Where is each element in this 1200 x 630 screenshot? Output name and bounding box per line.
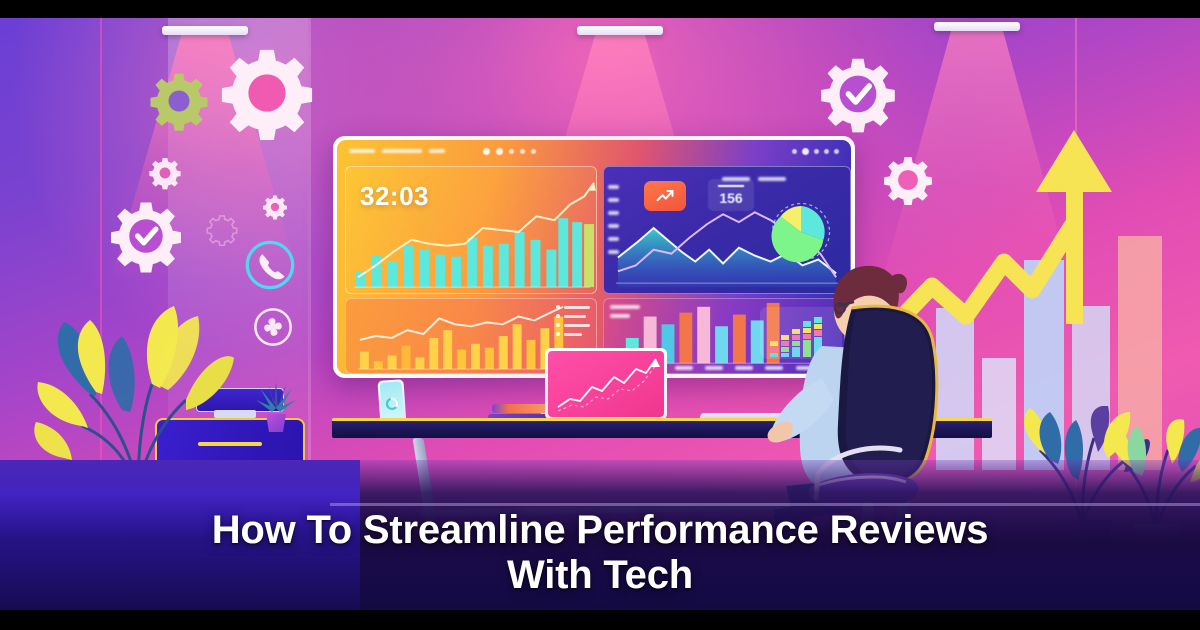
timer-stat: 32:03	[360, 181, 429, 212]
gear-check-icon	[108, 198, 184, 274]
share-icon[interactable]	[520, 149, 525, 154]
legend-dot	[556, 314, 560, 318]
hero-image: 32:03	[0, 0, 1200, 630]
kpi-badge-icon	[644, 181, 686, 211]
axis-tick	[608, 211, 619, 215]
axis-label	[675, 366, 693, 370]
gear-icon-right	[882, 154, 934, 206]
secondary-line-chart	[548, 351, 664, 417]
revenue-legend	[556, 305, 590, 341]
filter-icon[interactable]	[792, 149, 797, 154]
letterbox-bottom	[0, 610, 1200, 630]
circle-icon[interactable]	[496, 148, 503, 155]
page-title-line-2: With Tech	[507, 553, 693, 597]
legend-bar	[564, 333, 582, 336]
legend-bar	[564, 306, 590, 309]
page-title-line-1: How To Streamline Performance Reviews	[212, 508, 989, 552]
spotlight-fixture-far-right	[934, 22, 1020, 31]
circle-icon[interactable]	[483, 148, 490, 155]
circle-icon[interactable]	[802, 148, 809, 155]
bell-icon[interactable]	[824, 149, 829, 154]
letterbox-top	[0, 0, 1200, 18]
nav-item-team[interactable]	[429, 149, 445, 153]
nav-item-overview[interactable]	[349, 149, 375, 153]
gear-outline-icon	[206, 214, 238, 246]
legend-label	[758, 177, 786, 181]
pin-icon[interactable]	[814, 149, 819, 154]
axis-label	[705, 366, 723, 370]
axis-tick	[608, 250, 619, 254]
legend-bar	[564, 324, 590, 327]
legend-label	[722, 177, 750, 181]
user-icon[interactable]	[834, 149, 839, 154]
panel-subtitle	[610, 314, 630, 318]
secondary-monitor[interactable]	[545, 348, 667, 420]
book-stack-top	[492, 404, 548, 413]
plant-desk-succulent	[248, 374, 304, 436]
spotlight-fixture-left	[162, 26, 248, 35]
menu-icon[interactable]	[531, 149, 536, 154]
pie-chart	[770, 201, 832, 263]
legend-bar	[564, 315, 586, 318]
gear-icon-olive	[148, 70, 210, 132]
gear-icon-large	[218, 44, 316, 142]
kpi-count-value: 156	[719, 190, 742, 206]
panel-title	[610, 305, 640, 309]
trend-up-icon	[655, 186, 675, 206]
edit-icon[interactable]	[509, 149, 514, 154]
axis-tick	[608, 185, 619, 189]
phone-circle-icon	[243, 238, 297, 292]
legend-dot	[556, 323, 560, 327]
secondary-monitor-screen[interactable]	[548, 351, 664, 417]
legend-dot	[556, 332, 560, 336]
nav-item-analytics[interactable]	[382, 149, 422, 153]
axis-tick	[608, 237, 619, 241]
title-overlay: How To Streamline Performance Reviews Wi…	[0, 508, 1200, 612]
gear-check-icon-right	[818, 54, 898, 134]
gear-icon-tiny	[262, 194, 288, 220]
legend-dot	[556, 305, 560, 309]
panel-timer-bars[interactable]: 32:03	[345, 166, 597, 294]
axis-label	[735, 366, 753, 370]
fan-circle-icon	[252, 306, 294, 348]
axis-tick	[608, 198, 619, 202]
spotlight-fixture-right	[577, 26, 663, 35]
gear-icon-small	[148, 156, 182, 190]
axis-tick	[608, 224, 619, 228]
page-title: How To Streamline Performance Reviews Wi…	[90, 508, 1110, 598]
kpi-count: 156	[708, 179, 754, 211]
dashboard-toolbar[interactable]	[337, 140, 851, 162]
